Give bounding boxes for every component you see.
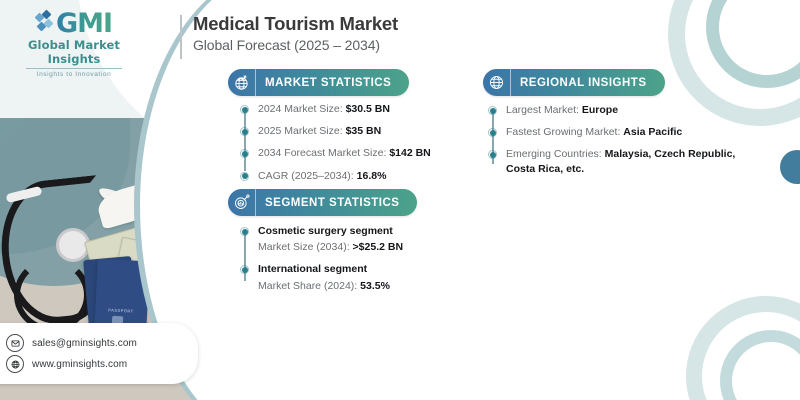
list-item-value: 16.8% [357, 170, 387, 182]
section-header-market-statistics[interactable]: MARKET STATISTICS [228, 69, 409, 96]
infographic-canvas: PASSPORT GMI Global Market Insights Insi… [0, 0, 800, 400]
list-item: Emerging Countries: Malaysia, Czech Repu… [488, 147, 788, 175]
decorative-ring-bottom-right-inner [720, 330, 800, 400]
list-item-label: Fastest Growing Market: [506, 126, 620, 138]
bullet-dot-icon [240, 149, 249, 158]
logo-company-name: Global Market Insights [8, 38, 140, 66]
list-item-value: >$25.2 BN [353, 241, 404, 253]
section-header-segment-statistics[interactable]: SEGMENT STATISTICS [228, 189, 417, 216]
list-item-label: 2034 Forecast Market Size: [258, 147, 386, 159]
list-item-label: CAGR (2025–2034): [258, 170, 354, 182]
contact-website: www.gminsights.com [32, 359, 127, 370]
list-item-value: $30.5 BN [346, 103, 390, 115]
contact-email: sales@gminsights.com [32, 338, 137, 349]
target-chart-icon [228, 189, 256, 216]
list-item-label: Market Share (2024): [258, 280, 357, 292]
bullet-dot-icon [240, 265, 249, 274]
envelope-icon [6, 334, 24, 352]
list-item: 2024 Market Size: $30.5 BN [240, 102, 470, 116]
page-title: Medical Tourism Market [193, 12, 398, 35]
bullet-dot-icon [240, 172, 249, 181]
bullet-dot-icon [488, 128, 497, 137]
list-item: Largest Market: Europe [488, 103, 788, 117]
regional-insights-list: Largest Market: Europe Fastest Growing M… [488, 103, 788, 176]
logo-tagline: Insights to Innovation [8, 71, 140, 78]
list-item-value: Asia Pacific [623, 126, 682, 138]
section-header-regional-insights[interactable]: REGIONAL INSIGHTS [483, 69, 665, 96]
list-item-value: 53.5% [360, 280, 390, 292]
bullet-dot-icon [488, 150, 497, 159]
bullet-dot-icon [240, 227, 249, 236]
list-item-label: Largest Market: [506, 104, 579, 116]
bullet-dot-icon [240, 105, 249, 114]
list-item: International segment Market Share (2024… [240, 262, 470, 292]
list-item-value: $142 BN [389, 147, 430, 159]
globe-grid-icon [483, 69, 511, 96]
segment-statistics-list: Cosmetic surgery segment Market Size (20… [240, 224, 470, 293]
gmi-diamond-icon [36, 11, 54, 37]
list-item-heading: International segment [258, 262, 470, 276]
list-item-value: Malaysia, Czech Republic, [605, 148, 736, 160]
stethoscope-tube-loop [14, 258, 90, 332]
section-title-market-statistics: MARKET STATISTICS [256, 77, 409, 89]
list-item: Fastest Growing Market: Asia Pacific [488, 125, 788, 139]
globe-icon [6, 355, 24, 373]
decorative-ring-bottom-right-outer [686, 296, 800, 400]
contact-row-email[interactable]: sales@gminsights.com [6, 334, 188, 352]
list-item-value-line2: Costa Rica, etc. [506, 162, 788, 176]
company-logo[interactable]: GMI Global Market Insights Insights to I… [8, 10, 140, 78]
logo-wordmark: GMI [8, 10, 140, 37]
page-subtitle: Global Forecast (2025 – 2034) [193, 37, 398, 53]
list-item: Cosmetic surgery segment Market Size (20… [240, 224, 470, 254]
decorative-ring-top-right-inner [706, 0, 800, 88]
page-title-block: Medical Tourism Market Global Forecast (… [180, 12, 398, 53]
bullet-rail [244, 109, 246, 171]
globe-chart-icon [228, 69, 256, 96]
list-item-value: Europe [582, 104, 618, 116]
list-item: 2025 Market Size: $35 BN [240, 124, 470, 138]
list-item-label: 2025 Market Size: [258, 125, 343, 137]
list-item: CAGR (2025–2034): 16.8% [240, 169, 470, 183]
list-item-label: 2024 Market Size: [258, 103, 343, 115]
bullet-dot-icon [488, 106, 497, 115]
list-item-label: Market Size (2034): [258, 241, 350, 253]
list-item: 2034 Forecast Market Size: $142 BN [240, 146, 470, 160]
bullet-dot-icon [240, 127, 249, 136]
list-item-value: $35 BN [346, 125, 382, 137]
list-item-label: Emerging Countries: [506, 148, 602, 160]
section-title-regional-insights: REGIONAL INSIGHTS [511, 77, 665, 89]
contact-card: sales@gminsights.com www.gminsights.com [0, 323, 198, 384]
market-statistics-list: 2024 Market Size: $30.5 BN 2025 Market S… [240, 102, 470, 183]
logo-initials: GMI [56, 10, 112, 37]
list-item-heading: Cosmetic surgery segment [258, 224, 470, 238]
section-title-segment-statistics: SEGMENT STATISTICS [256, 197, 417, 209]
contact-row-website[interactable]: www.gminsights.com [6, 355, 188, 373]
logo-divider [26, 68, 122, 69]
